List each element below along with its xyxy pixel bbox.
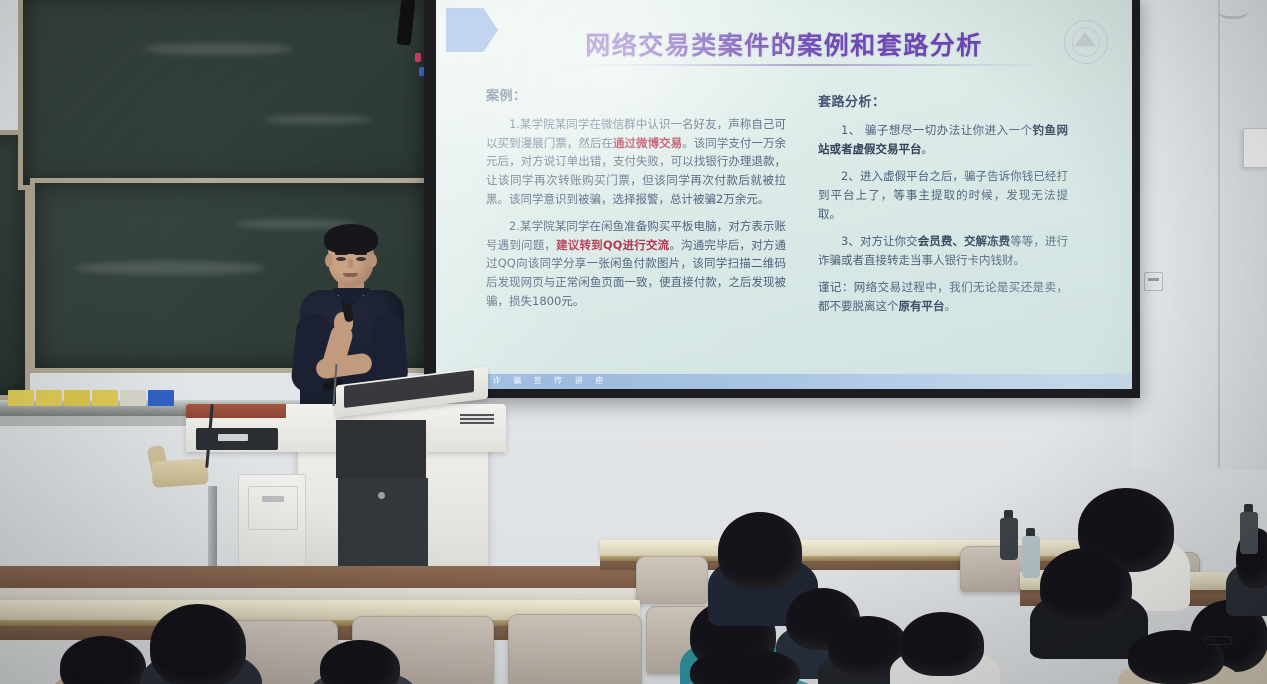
stool-seat <box>151 458 209 488</box>
right-column-body: 1、 骗子想尽一切办法让你进入一个钓鱼网站或者虚假交易平台。2、进入虚假平台之后… <box>818 121 1068 316</box>
title-underline <box>554 64 1046 66</box>
chalk-box-blue <box>148 390 174 406</box>
lecture-hall-photo: 网络交易类案件的案例和套路分析 案例： 1.某学院某同学在微信群中认识一名好友，… <box>0 0 1267 684</box>
seat-far-1 <box>636 556 708 604</box>
body-text: 。 <box>945 299 957 313</box>
left-column-paragraph-2: 2.某学院某同学在闲鱼准备购买平板电脑，对方表示账号遇到问题，建议转到QQ进行交… <box>486 217 786 310</box>
right-column-paragraph-2: 2、进入虚假平台之后，骗子告诉你钱已经打到平台上了，等事主提取的时候，发现无法提… <box>818 167 1068 223</box>
right-column-paragraph-1: 1、 骗子想尽一切办法让你进入一个钓鱼网站或者虚假交易平台。 <box>818 121 1068 158</box>
student-center-white <box>900 612 984 676</box>
seat-mid-3 <box>508 614 642 684</box>
student-right-black <box>1040 548 1132 624</box>
body-text: 。 <box>922 142 934 156</box>
blackboard-panel-top <box>18 0 438 190</box>
slide-left-column: 案例： 1.某学院某同学在微信群中认识一名好友，声称自己可以买到漫展门票，然后在… <box>486 86 786 319</box>
left-column-paragraph-1: 1.某学院某同学在微信群中认识一名好友，声称自己可以买到漫展门票，然后在通过微博… <box>486 115 786 208</box>
podium-wood-top <box>186 404 286 418</box>
speaker-nose <box>348 259 353 268</box>
blackboard-eraser <box>397 0 416 46</box>
bold-text: 会员费、交解冻费 <box>918 234 1011 248</box>
right-column-paragraph-3: 3、对方让你交会员费、交解冻费等等，进行诈骗或者直接转走当事人银行卡内钱财。 <box>818 232 1068 269</box>
slide-footer-text: 反 诈 骗 宣 传 讲 座 <box>472 375 608 386</box>
chalk-box-yellow-2 <box>36 390 62 406</box>
magnet-pink <box>415 53 421 62</box>
slide-title: 网络交易类案件的案例和套路分析 <box>436 26 1132 62</box>
podium-drawer-handle <box>262 496 284 502</box>
highlighted-text: 建议转到QQ进行交流 <box>556 238 669 252</box>
podium-vent <box>460 414 494 424</box>
chalk-box-yellow-3 <box>64 390 90 406</box>
student-mid-back-navy <box>718 512 802 590</box>
podium-label-plate <box>218 434 248 441</box>
wall-mounted-fixture <box>1243 128 1267 168</box>
student-front-left-2 <box>150 604 246 684</box>
speaker-hair <box>324 224 378 254</box>
projection-screen: 网络交易类案件的案例和套路分析 案例： 1.某学院某同学在微信群中认识一名好友，… <box>436 0 1132 389</box>
left-column-body: 1.某学院某同学在微信群中认识一名好友，声称自己可以买到漫展门票，然后在通过微博… <box>486 115 786 310</box>
body-text: 3、对方让你交 <box>841 234 918 248</box>
right-column-heading: 套路分析： <box>818 92 1068 113</box>
slide-right-column: 套路分析： 1、 骗子想尽一切办法让你进入一个钓鱼网站或者虚假交易平台。2、进入… <box>818 92 1068 325</box>
left-column-heading: 案例： <box>486 86 786 107</box>
bold-text: 原有平台 <box>899 299 945 313</box>
podium-drawer <box>248 486 298 530</box>
body-text: 1、 骗子想尽一切办法让你进入一个 <box>841 123 1033 137</box>
water-bottle-2 <box>1240 512 1258 554</box>
right-column-paragraph-4: 谨记：网络交易过程中，我们无论是买还是卖，都不要脱离这个原有平台。 <box>818 278 1068 315</box>
ceiling-pipe <box>1218 0 1248 19</box>
podium-front-panel-upper <box>336 420 426 478</box>
wall-seam <box>1218 0 1220 468</box>
right-wall <box>1132 0 1267 470</box>
body-text: 2、进入虚假平台之后，骗子告诉你钱已经打到平台上了，等事主提取的时候，发现无法提… <box>818 169 1068 220</box>
chalk-box-white <box>120 390 146 406</box>
stage-platform-edge <box>0 566 640 590</box>
chalk-box-yellow-4 <box>92 390 118 406</box>
slide-footer-bar: 反 诈 骗 宣 传 讲 座 <box>436 374 1132 389</box>
water-bottle-1 <box>1000 518 1018 560</box>
water-bottle-3 <box>1022 536 1040 578</box>
eyeglasses-icon <box>1204 636 1232 645</box>
power-outlet <box>1144 272 1163 291</box>
highlighted-text: 通过微博交易 <box>613 136 682 150</box>
speaker-mouth <box>343 273 358 277</box>
podium-lock-knob <box>378 492 385 499</box>
chalk-box-yellow-1 <box>8 390 34 406</box>
